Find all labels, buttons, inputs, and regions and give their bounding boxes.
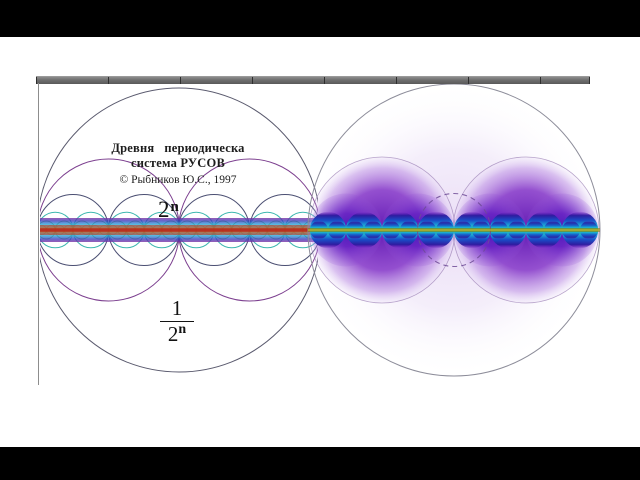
ruler-tick (324, 77, 325, 84)
ruler-tick (396, 77, 397, 84)
ruler-tick (468, 77, 469, 84)
label-one-over-two-to-the-n: 1 2n (160, 299, 194, 345)
caption-copyright: © Рыбников Ю.С., 1997 (78, 174, 278, 188)
ruler-tick (540, 77, 541, 84)
power-base: 2 (158, 197, 170, 222)
label-two-to-the-n: 2n (158, 197, 179, 223)
fraction-denominator-base: 2 (168, 322, 179, 346)
ruler-tick (36, 77, 37, 84)
ruler-tick (252, 77, 253, 84)
glow-diagram (306, 82, 602, 378)
caption-title-line-2: система РУСОВ (78, 156, 278, 171)
fraction-denominator: 2n (160, 323, 194, 345)
page-margin-guide (38, 83, 39, 385)
diagram-caption: Древня периодическа система РУСОВ © Рыбн… (78, 141, 278, 187)
power-exponent: n (171, 199, 179, 215)
caption-title-line-1: Древня периодическа (78, 141, 278, 156)
document-canvas: Древня периодическа система РУСОВ © Рыбн… (0, 37, 640, 447)
ruler-tick (180, 77, 181, 84)
video-frame: Древня периодическа система РУСОВ © Рыбн… (0, 0, 640, 480)
fraction-denominator-exponent: n (178, 322, 186, 337)
fraction-numerator: 1 (160, 299, 194, 319)
letterbox-bar-top (0, 0, 640, 37)
letterbox-bar-bottom (0, 447, 640, 480)
horizontal-ruler[interactable] (36, 76, 590, 84)
ruler-tick (108, 77, 109, 84)
ruler-tick (589, 77, 590, 84)
